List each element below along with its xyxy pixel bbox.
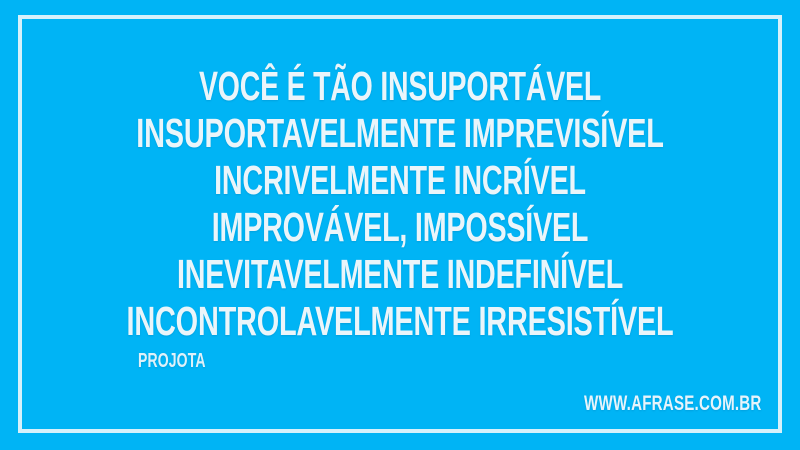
quote-author: PROJOTA xyxy=(138,351,206,371)
site-url-watermark: WWW.AFRASE.COM.BR xyxy=(584,393,762,414)
quote-line: INCONTROLAVELMENTE IRRESISTÍVEL xyxy=(118,298,682,345)
quote-line: VOCÊ É TÃO INSUPORTÁVEL xyxy=(122,63,678,110)
quote-line: INCRIVELMENTE INCRÍVEL xyxy=(120,157,680,204)
quote-text-block: VOCÊ É TÃO INSUPORTÁVEL INSUPORTAVELMENT… xyxy=(0,63,800,345)
quote-line: IMPROVÁVEL, IMPOSSÍVEL xyxy=(120,204,680,251)
quote-card: VOCÊ É TÃO INSUPORTÁVEL INSUPORTAVELMENT… xyxy=(0,0,800,450)
quote-line: INEVITAVELMENTE INDEFINÍVEL xyxy=(120,251,680,298)
quote-line: INSUPORTAVELMENTE IMPREVISÍVEL xyxy=(118,110,682,157)
